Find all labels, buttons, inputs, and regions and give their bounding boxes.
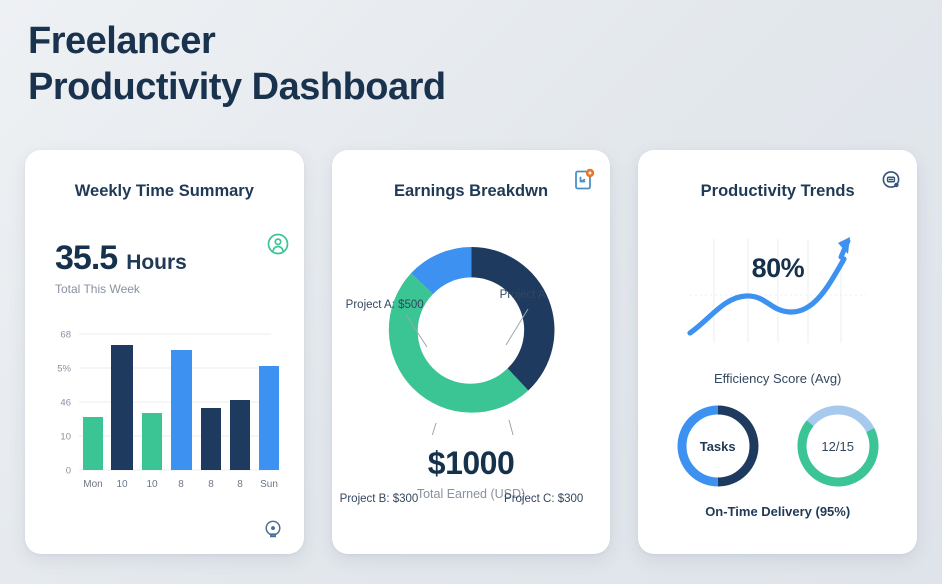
x-tick-0: Mon [83, 479, 102, 490]
page-title-line-2: Productivity Dashboard [28, 64, 446, 110]
bar-4 [201, 408, 221, 470]
lightbulb-circle-icon [262, 518, 284, 540]
ring-ontime: 12/15 [792, 400, 884, 492]
x-tick-5: 8 [237, 479, 243, 490]
donut-label-project-b: Project B: $300 [340, 493, 419, 505]
x-tick-3: 8 [178, 479, 184, 490]
weekly-hours-bar-chart: 68 5% 46 10 0 Mon 10 10 8 [25, 325, 304, 505]
document-badge-icon[interactable] [572, 168, 596, 192]
bar-5 [230, 400, 250, 470]
donut-label-project-a-left: Project A: $500 [346, 299, 424, 311]
bar-3 [171, 350, 192, 470]
efficiency-line-chart [638, 215, 917, 365]
ontime-ring-label: 12/15 [792, 400, 884, 492]
card-weekly-time-summary[interactable]: Weekly Time Summary 35.5 Hours Total Thi… [25, 150, 304, 554]
earnings-donut-area: Project A: $500 Project A Project B: $30… [332, 205, 611, 435]
card-productivity-trends[interactable]: Productivity Trends 80% [638, 150, 917, 554]
ring-tasks: Tasks [672, 400, 764, 492]
donut-slice-project-a [471, 247, 554, 391]
x-tick-1: 10 [116, 479, 128, 490]
x-tick-6: Sun [260, 479, 278, 490]
chart-bars [83, 345, 279, 470]
earnings-donut-chart [332, 205, 611, 435]
bar-2 [142, 413, 162, 470]
card-title-weekly-time: Weekly Time Summary [25, 182, 304, 201]
donut-label-project-c: Project C: $300 [502, 493, 586, 505]
badge-circle-icon[interactable] [879, 168, 903, 192]
bar-0 [83, 417, 103, 470]
donut-label-project-a-right: Project A [500, 289, 546, 301]
y-axis-labels: 68 5% 46 10 0 [57, 330, 71, 477]
person-circle-icon [266, 232, 290, 256]
efficiency-caption: Efficiency Score (Avg) [638, 371, 917, 386]
ontime-delivery-caption: On-Time Delivery (95%) [638, 504, 917, 519]
card-title-productivity: Productivity Trends [638, 182, 917, 201]
page-title: Freelancer Productivity Dashboard [28, 18, 446, 111]
y-tick-0: 68 [60, 330, 71, 341]
bar-6 [259, 366, 279, 470]
card-title-earnings: Earnings Breakdwn [332, 182, 611, 201]
y-tick-1: 5% [57, 364, 71, 375]
efficiency-trend-area: 80% [638, 215, 917, 365]
kpi-hours-unit: Hours [126, 251, 187, 275]
tasks-ring-label: Tasks [672, 400, 764, 492]
x-tick-4: 8 [208, 479, 214, 490]
x-axis-labels: Mon 10 10 8 8 8 Sun [83, 479, 278, 490]
y-tick-4: 0 [66, 466, 71, 477]
y-tick-3: 10 [60, 432, 71, 443]
total-earned-value: $1000 [332, 445, 611, 482]
y-tick-2: 46 [60, 398, 71, 409]
x-tick-2: 10 [146, 479, 158, 490]
kpi-hours-value: 35.5 [55, 239, 117, 278]
kpi-subtitle: Total This Week [55, 282, 304, 296]
page-title-line-1: Freelancer [28, 18, 446, 64]
card-earnings-breakdown[interactable]: Earnings Breakdwn [332, 150, 611, 554]
efficiency-percent: 80% [638, 253, 917, 284]
progress-rings: Tasks 12/15 [638, 400, 917, 492]
bar-1 [111, 345, 133, 470]
dashboard-cards: Weekly Time Summary 35.5 Hours Total Thi… [25, 150, 917, 554]
